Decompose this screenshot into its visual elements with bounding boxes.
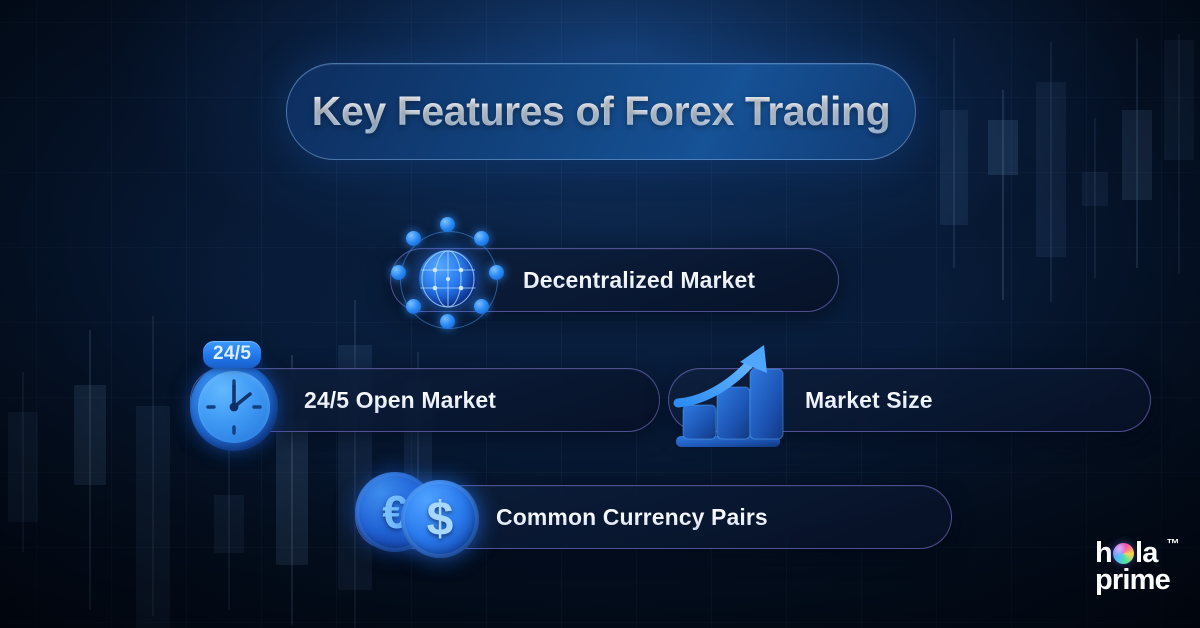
page-title: Key Features of Forex Trading	[312, 88, 891, 135]
logo-hola-suffix: la	[1135, 537, 1158, 569]
logo-sphere-icon	[1113, 543, 1134, 564]
feature-label-decentralized-market: Decentralized Market	[523, 267, 755, 294]
badge-24-5: 24/5	[203, 341, 261, 368]
feature-label-currency-pairs: Common Currency Pairs	[496, 504, 768, 531]
clock-icon: 24/5	[188, 341, 284, 453]
globe-network-icon	[389, 220, 507, 338]
trademark-symbol: ™	[1167, 538, 1180, 550]
growth-bar-chart-icon	[670, 343, 790, 451]
infographic-canvas: Key Features of Forex Trading	[0, 0, 1200, 628]
brand-logo[interactable]: hla ™ prime	[1095, 540, 1170, 594]
page-title-pill: Key Features of Forex Trading	[286, 63, 916, 160]
feature-item-decentralized-market[interactable]: Decentralized Market	[390, 248, 839, 312]
logo-prime: prime	[1095, 567, 1170, 594]
logo-hola-prefix: h	[1095, 537, 1112, 569]
feature-label-open-market: 24/5 Open Market	[304, 387, 496, 414]
dollar-coin-icon: $	[401, 480, 479, 558]
feature-label-market-size: Market Size	[805, 387, 933, 414]
feature-item-currency-pairs[interactable]: € $ Common Currency Pairs	[355, 485, 952, 549]
euro-dollar-coins-icon: € $	[353, 468, 483, 564]
feature-item-market-size[interactable]: Market Size	[668, 368, 1151, 432]
feature-item-open-market[interactable]: 24/5	[190, 368, 660, 432]
